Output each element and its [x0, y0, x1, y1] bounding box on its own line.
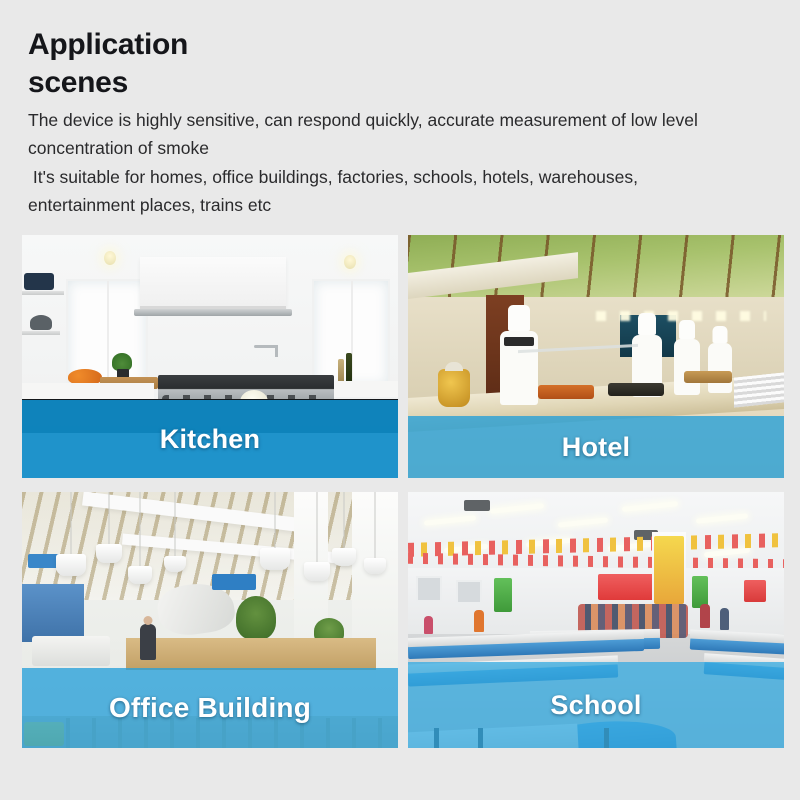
pendant-lamp-5 — [260, 548, 290, 570]
description-text: The device is highly sensitive, can resp… — [28, 106, 748, 219]
page-title-line-2: scenes — [28, 64, 488, 102]
scene-grid: Kitchen — [22, 235, 784, 748]
wall-poster-red-right — [744, 580, 766, 602]
kitchen-shelf-upper — [22, 291, 64, 295]
scene-card-school[interactable]: School — [408, 492, 784, 748]
office-lounge-sofa — [32, 636, 110, 666]
scene-card-hotel[interactable]: Hotel — [408, 235, 784, 478]
scene-label-kitchen: Kitchen — [160, 424, 260, 455]
chef-hat-icon — [679, 320, 695, 339]
scene-caption-band-office-building: Office Building — [22, 668, 398, 748]
shelf-pot — [30, 315, 52, 330]
chef-hat-icon — [638, 313, 656, 335]
office-person — [140, 624, 156, 660]
scene-card-kitchen[interactable]: Kitchen — [22, 235, 398, 478]
chef-hat-icon — [508, 305, 530, 331]
range-hood — [140, 257, 286, 309]
pendant-lamp-7 — [332, 548, 356, 566]
scene-label-school: School — [550, 690, 641, 721]
pendant-lamp-4 — [164, 556, 186, 572]
wall-poster-green-left — [494, 578, 512, 612]
chef-1-apron — [504, 337, 534, 346]
shelf-dish-dark — [24, 273, 54, 290]
scene-caption-band-kitchen: Kitchen — [22, 400, 398, 478]
pendant-lamp-8 — [364, 558, 386, 574]
buffet-tray-1 — [538, 385, 594, 399]
scene-caption-band-hotel: Hotel — [408, 416, 784, 478]
counter-bottle-light — [338, 359, 344, 383]
school-window-2 — [456, 580, 482, 604]
stacked-plates — [734, 372, 784, 407]
scene-label-office-building: Office Building — [109, 692, 311, 724]
pendant-lamp-2 — [96, 544, 122, 563]
scene-card-office-building[interactable]: Office Building — [22, 492, 398, 748]
chef-hat-icon — [713, 326, 728, 343]
ceiling-vent-1 — [464, 500, 490, 511]
buffet-tray-3 — [684, 371, 732, 383]
office-blue-partition — [22, 584, 84, 642]
kitchen-counter-right — [334, 381, 398, 397]
buffet-tray-2 — [608, 383, 664, 396]
chef-4 — [708, 343, 732, 393]
pendant-lamp-3 — [128, 566, 152, 584]
page-title: Application scenes — [28, 26, 488, 101]
page-title-line-1: Application — [28, 26, 488, 64]
scene-label-hotel: Hotel — [562, 432, 631, 463]
pendant-lamp-1 — [56, 554, 86, 576]
ceiling-lamp-left-icon — [104, 251, 116, 265]
buffet-urn — [438, 369, 470, 407]
range-hood-bar — [134, 309, 292, 316]
pendant-lamp-6 — [304, 562, 330, 581]
student-2 — [424, 616, 433, 634]
food-poster-yellow — [654, 536, 684, 604]
office-reception-counter — [126, 638, 376, 670]
office-indoor-tree — [236, 596, 276, 640]
student-1 — [474, 610, 484, 632]
ceiling-lamp-right-icon — [344, 255, 356, 269]
student-4 — [720, 608, 729, 630]
counter-bottle-dark — [346, 353, 352, 383]
kitchen-shelf-lower — [22, 331, 60, 335]
scene-caption-band-school: School — [408, 662, 784, 748]
student-3 — [700, 604, 710, 628]
office-wayfinding-sign — [212, 574, 256, 590]
chef-3 — [674, 339, 700, 395]
kitchen-counter-left — [22, 383, 154, 399]
wall-faucet-icon — [254, 345, 278, 348]
application-scenes-page: Application scenes The device is highly … — [0, 0, 800, 800]
school-window-1 — [416, 576, 442, 602]
